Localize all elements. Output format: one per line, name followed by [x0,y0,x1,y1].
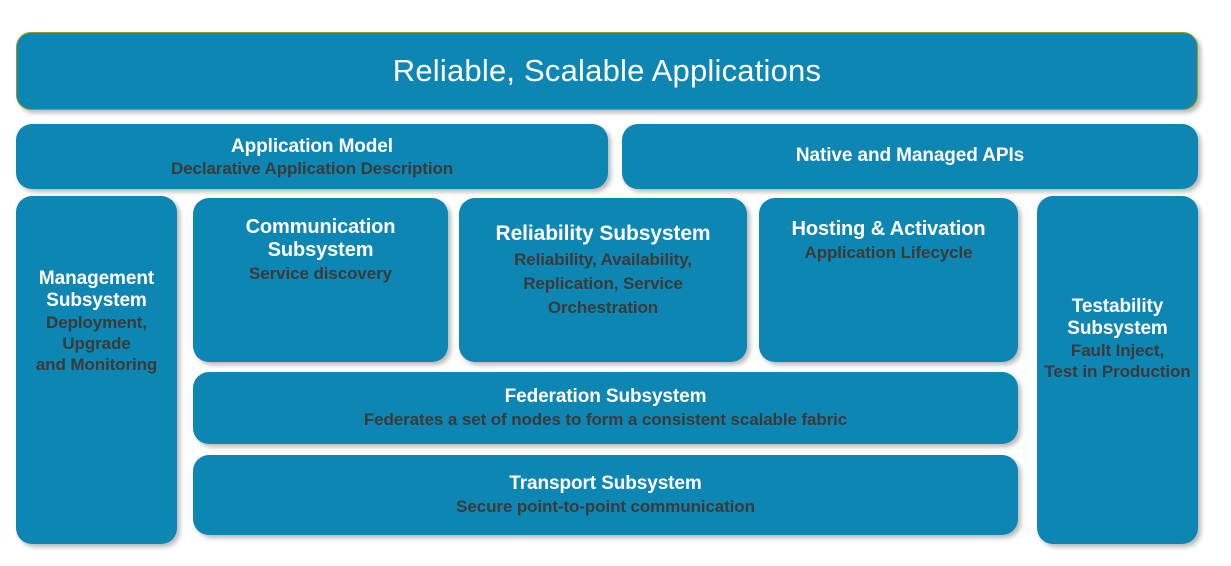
reliability-sub-line-3: Orchestration [548,298,658,318]
box-communication-subsystem: Communication Subsystem Service discover… [193,198,448,362]
box-federation-subsystem: Federation Subsystem Federates a set of … [193,372,1018,444]
communication-sub-line-1: Service discovery [249,264,392,284]
management-sub-line-3: and Monitoring [36,355,157,375]
reliability-title-line-1: Reliability Subsystem [496,222,711,246]
application-model-subtitle: Declarative Application Description [171,159,453,179]
banner-reliable-scalable-applications: Reliable, Scalable Applications [16,32,1198,110]
testability-title-line-2: Subsystem [1067,318,1167,340]
box-hosting-and-activation: Hosting & Activation Application Lifecyc… [759,198,1018,362]
communication-title-line-2: Subsystem [268,239,374,262]
testability-title-line-1: Testability [1072,296,1163,318]
native-apis-title: Native and Managed APIs [796,145,1024,167]
banner-title: Reliable, Scalable Applications [393,53,821,89]
management-sub-line-1: Deployment, [46,313,147,333]
management-title-line-1: Management [39,268,154,290]
reliability-sub-line-1: Reliability, Availability, [514,250,692,270]
application-model-title: Application Model [231,136,393,158]
federation-subtitle: Federates a set of nodes to form a consi… [364,410,847,430]
transport-subtitle: Secure point-to-point communication [456,497,755,517]
box-native-and-managed-apis: Native and Managed APIs [622,124,1198,189]
transport-title: Transport Subsystem [509,473,701,495]
box-application-model: Application Model Declarative Applicatio… [16,124,608,189]
box-reliability-subsystem: Reliability Subsystem Reliability, Avail… [459,198,747,362]
federation-title: Federation Subsystem [505,386,707,408]
management-title-line-2: Subsystem [46,290,146,312]
testability-sub-line-2: Test in Production [1044,362,1190,382]
architecture-diagram: Reliable, Scalable Applications Applicat… [0,0,1231,566]
box-testability-subsystem: Testability Subsystem Fault Inject, Test… [1037,196,1198,544]
communication-title-line-1: Communication [246,216,396,239]
reliability-sub-line-2: Replication, Service [523,274,683,294]
hosting-title-line-1: Hosting & Activation [792,218,986,241]
hosting-sub-line-1: Application Lifecycle [805,243,973,263]
box-transport-subsystem: Transport Subsystem Secure point-to-poin… [193,455,1018,535]
management-sub-line-2: Upgrade [62,334,130,354]
box-management-subsystem: Management Subsystem Deployment, Upgrade… [16,196,177,544]
testability-sub-line-1: Fault Inject, [1071,341,1164,361]
